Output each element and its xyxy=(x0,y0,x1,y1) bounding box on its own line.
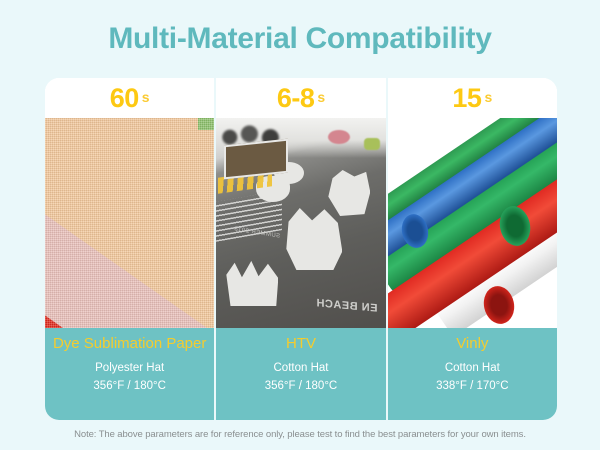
material-temperature: 356°F / 180°C xyxy=(265,378,338,396)
htv-photo-caption: EN BEACH xyxy=(316,297,377,314)
vinyl-rolls-graphic xyxy=(388,118,557,328)
material-name: HTV xyxy=(286,336,316,353)
material-info-panel: Vinly Cotton Hat 338°F / 170°C xyxy=(388,328,557,420)
material-card-group: 60 s Dye Sublimation Paper Polyester Hat… xyxy=(45,78,557,420)
material-photo-htv: SUMMER 2018 EN BEACH xyxy=(216,118,385,328)
material-card-dye-sublimation-paper[interactable]: 60 s Dye Sublimation Paper Polyester Hat… xyxy=(45,78,214,420)
material-info-panel: Dye Sublimation Paper Polyester Hat 356°… xyxy=(45,328,214,420)
htv-cut-shape xyxy=(226,258,278,306)
page-title: Multi-Material Compatibility xyxy=(0,0,600,54)
material-name: Vinly xyxy=(456,336,488,353)
time-header: 6-8 s xyxy=(216,78,385,118)
material-card-htv[interactable]: 6-8 s SUMMER 2018 EN BEACH HTV xyxy=(214,78,385,420)
fabric-texture-overlay xyxy=(45,118,214,328)
material-name: Dye Sublimation Paper xyxy=(53,336,206,353)
htv-cut-shape xyxy=(328,170,370,216)
material-temperature: 356°F / 180°C xyxy=(93,378,166,396)
htv-sheet-graphic: SUMMER 2018 EN BEACH xyxy=(216,118,385,328)
time-unit: s xyxy=(142,90,150,106)
time-value: 15 xyxy=(452,85,481,112)
time-unit: s xyxy=(484,90,492,106)
material-photo-vinyl xyxy=(388,118,557,328)
material-substrate: Polyester Hat xyxy=(95,360,164,378)
green-accent-shape xyxy=(364,138,380,150)
pink-accent-shape xyxy=(328,130,350,144)
time-header: 60 s xyxy=(45,78,214,118)
time-value: 60 xyxy=(110,85,139,112)
material-substrate: Cotton Hat xyxy=(274,360,329,378)
time-header: 15 s xyxy=(388,78,557,118)
htv-cut-shape xyxy=(286,208,342,270)
footer-note: Note: The above parameters are for refer… xyxy=(0,429,600,440)
material-card-vinyl[interactable]: 15 s Vinly Cotton Hat 338°F / 170°C xyxy=(386,78,557,420)
material-temperature: 338°F / 170°C xyxy=(436,378,509,396)
material-substrate: Cotton Hat xyxy=(445,360,500,378)
time-unit: s xyxy=(317,90,325,106)
material-info-panel: HTV Cotton Hat 356°F / 180°C xyxy=(216,328,385,420)
material-photo-dye-sublimation-paper xyxy=(45,118,214,328)
htv-product-label xyxy=(224,139,288,180)
time-value: 6-8 xyxy=(277,85,315,112)
